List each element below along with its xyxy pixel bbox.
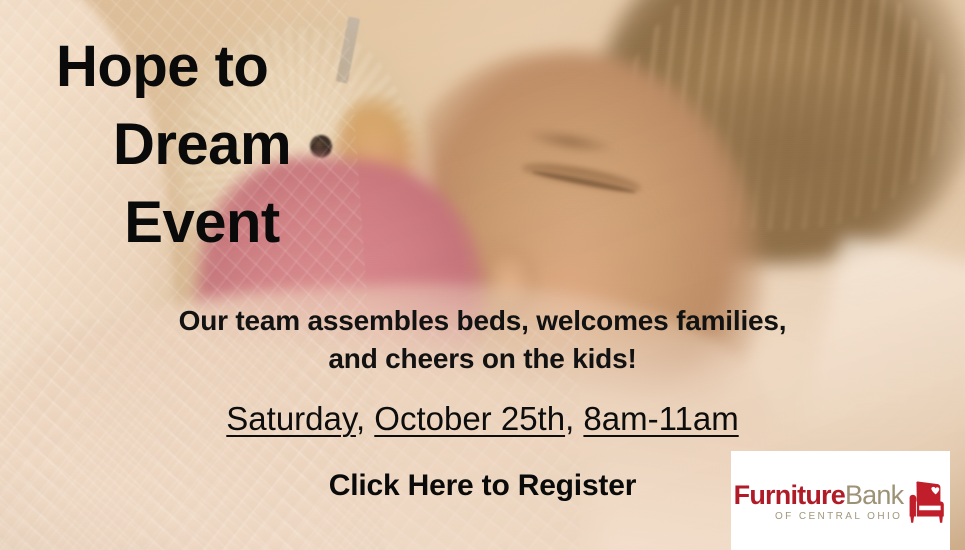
datetime-separator-2: , [565,400,583,437]
headline-line-3: Event [52,184,352,262]
logo-inner: FurnitureBank OF CENTRAL OHIO [734,479,948,525]
tagline-line-2: and cheers on the kids! [0,340,965,378]
headline: Hope to Dream Event [52,28,352,262]
tagline-line-1: Our team assembles beds, welcomes famili… [0,302,965,340]
logo-word-furniture: Furniture [734,480,845,510]
armchair-heart-icon [907,481,947,525]
logo-word-bank: Bank [845,480,903,510]
event-date: October 25th [374,400,565,437]
headline-line-1: Hope to [52,28,352,106]
event-datetime: Saturday, October 25th, 8am-11am [0,398,965,440]
datetime-separator-1: , [356,400,374,437]
logo-wordmark: FurnitureBank OF CENTRAL OHIO [734,482,904,522]
headline-line-2: Dream [52,106,352,184]
tagline: Our team assembles beds, welcomes famili… [0,302,965,378]
event-time: 8am-11am [583,400,738,437]
flyer-content: Hope to Dream Event Our team assembles b… [0,0,965,550]
event-day: Saturday [226,400,356,437]
logo-tagline: OF CENTRAL OHIO [775,512,902,522]
furniture-bank-logo[interactable]: FurnitureBank OF CENTRAL OHIO [731,451,950,550]
hope-to-dream-flyer: Hope to Dream Event Our team assembles b… [0,0,965,550]
logo-top-line: FurnitureBank [734,482,904,509]
